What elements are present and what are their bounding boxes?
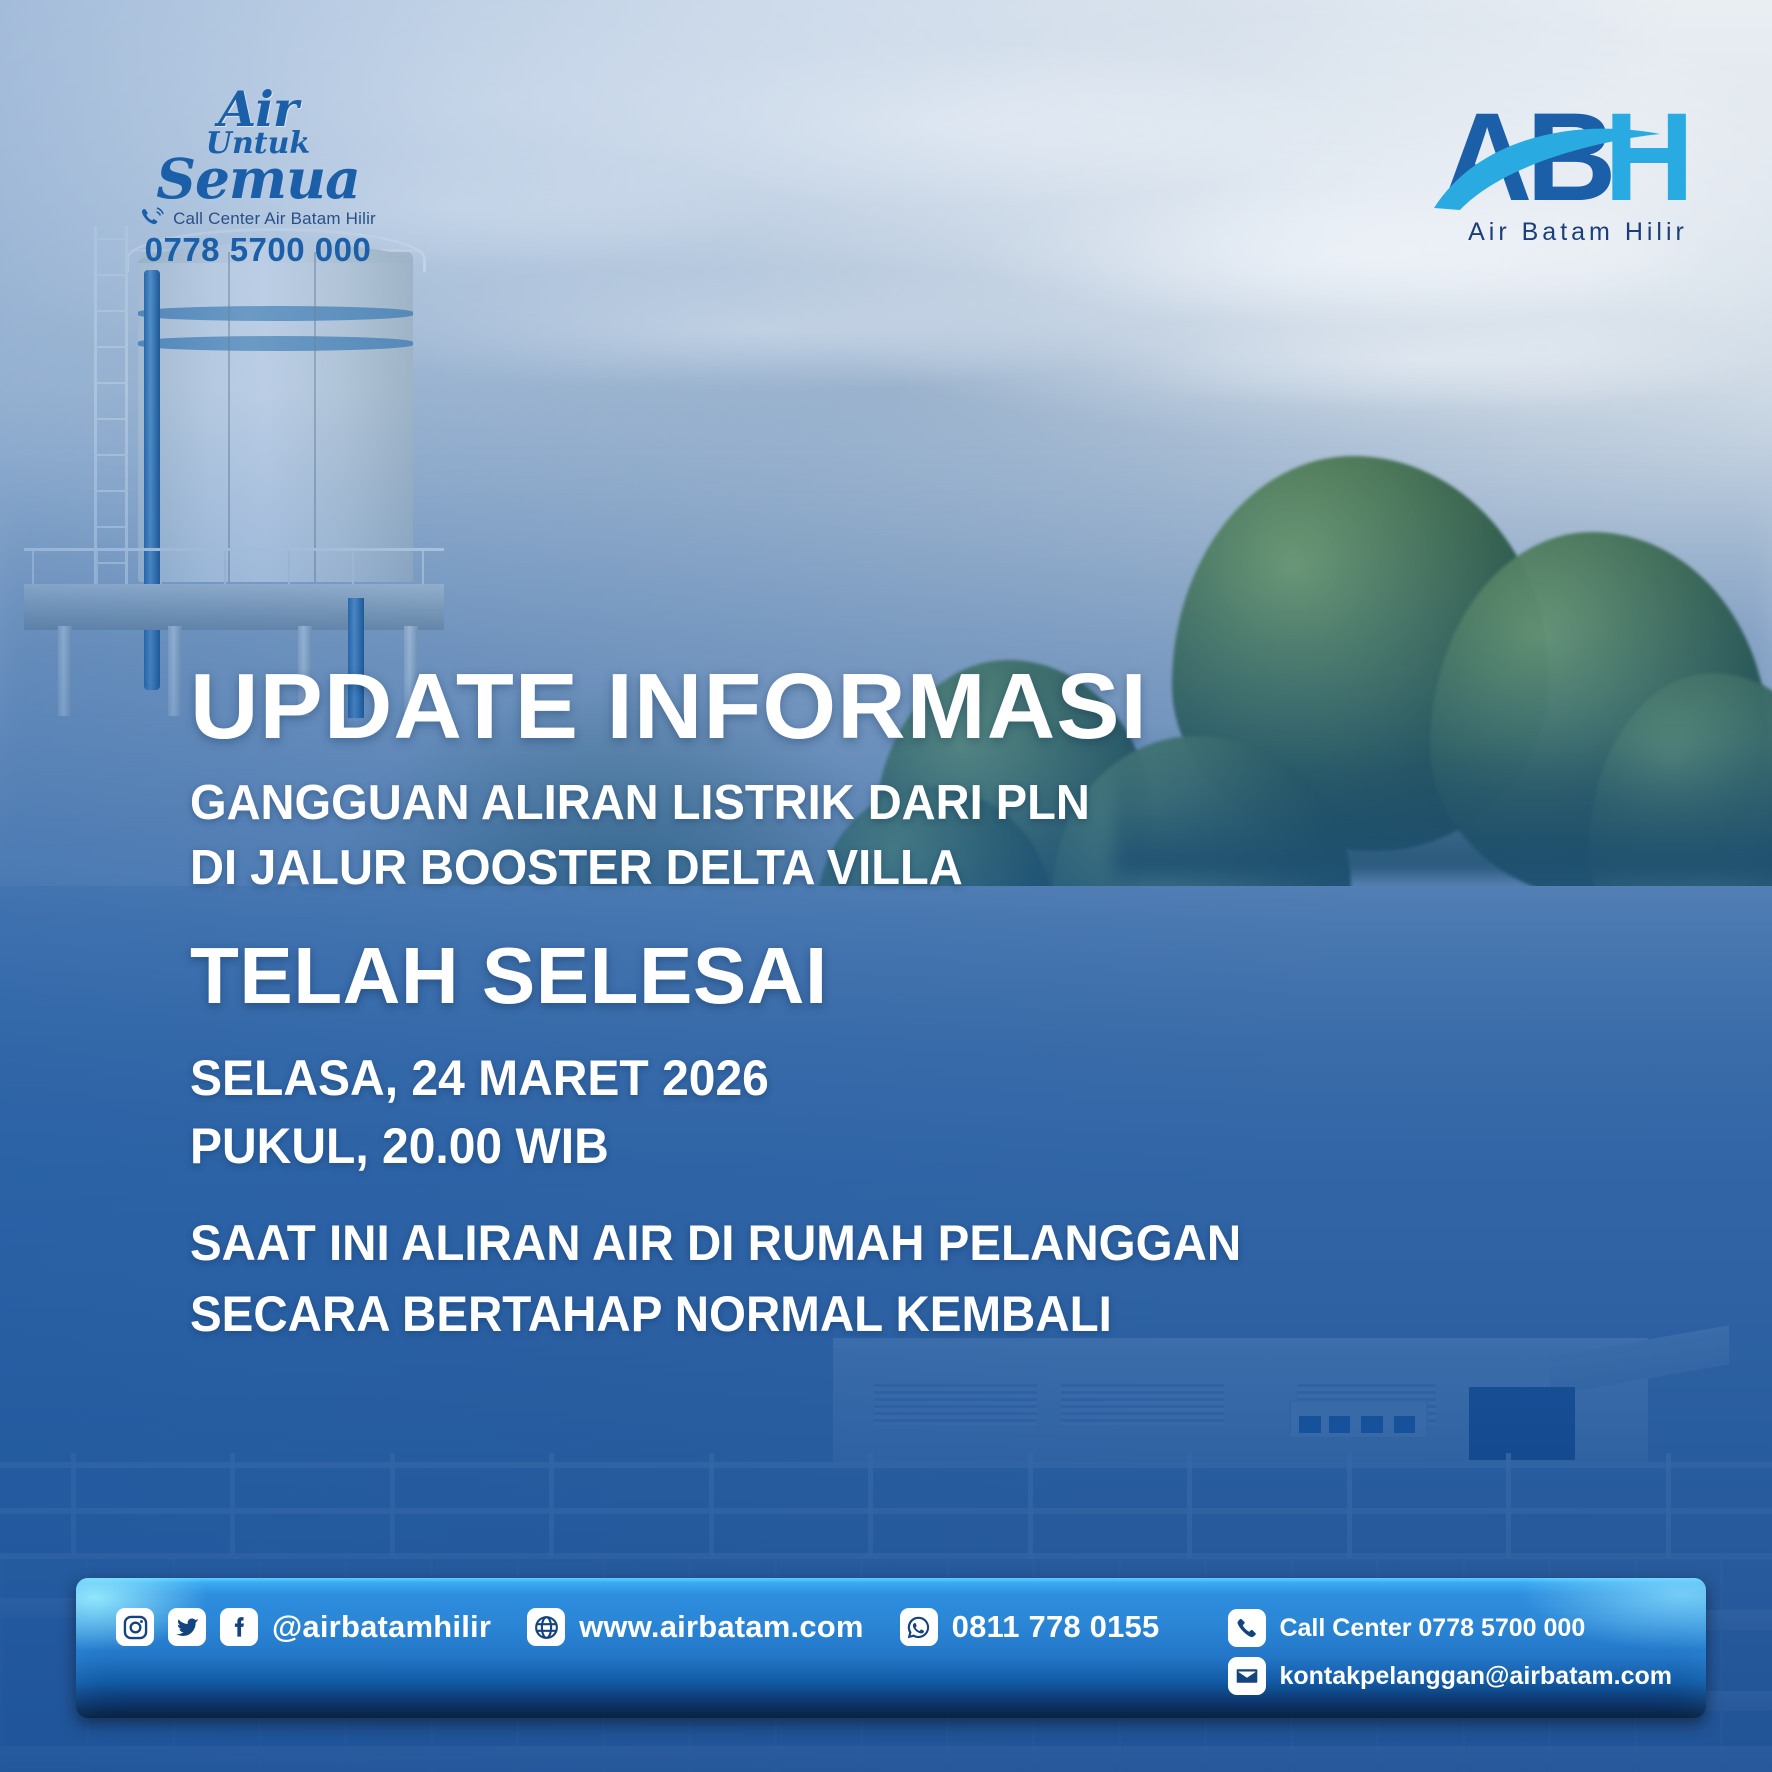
phone-icon[interactable] [1228, 1609, 1266, 1647]
call-center-number: 0778 5700 000 [128, 231, 388, 269]
globe-icon[interactable] [527, 1608, 565, 1646]
facebook-icon[interactable] [220, 1608, 258, 1646]
social-handle[interactable]: @airbatamhilir [272, 1609, 491, 1645]
status-badge: TELAH SELESAI [190, 934, 1610, 1018]
subject-line-2: DI JALUR BOOSTER DELTA VILLA [190, 836, 1553, 901]
note-line-1: SAAT INI ALIRAN AIR DI RUMAH PELANGGAN [190, 1208, 1539, 1279]
mail-icon[interactable] [1228, 1657, 1266, 1695]
abh-logo: AB H Air Batam Hilir [1428, 96, 1728, 247]
svg-text:H: H [1604, 96, 1694, 216]
instagram-icon[interactable] [116, 1608, 154, 1646]
whatsapp-icon[interactable] [900, 1608, 938, 1646]
call-center-label: Call Center Air Batam Hilir [173, 209, 376, 229]
air-untuk-semua-logo: Air Untuk Semua Call Center Air Batam Hi… [128, 86, 388, 269]
twitter-icon[interactable] [168, 1608, 206, 1646]
page-title: UPDATE INFORMASI [190, 660, 1638, 753]
announcement-poster: Air Untuk Semua Call Center Air Batam Hi… [0, 0, 1772, 1772]
call-center-footer[interactable]: Call Center 0778 5700 000 [1279, 1614, 1585, 1643]
subject-line-1: GANGGUAN ALIRAN LISTRIK DARI PLN [190, 771, 1553, 836]
whatsapp-number[interactable]: 0811 778 0155 [952, 1609, 1160, 1645]
website-link[interactable]: www.airbatam.com [579, 1609, 864, 1645]
abh-logo-name: Air Batam Hilir [1428, 218, 1728, 247]
event-date: SELASA, 24 MARET 2026 [190, 1044, 1553, 1112]
event-time: PUKUL, 20.00 WIB [190, 1112, 1553, 1180]
note-line-2: SECARA BERTAHAP NORMAL KEMBALI [190, 1279, 1539, 1350]
contact-footer-bar: @airbatamhilir www.airbatam.com 0811 778… [76, 1578, 1706, 1718]
tagline-semua: Semua [128, 153, 388, 205]
abh-monogram: AB H [1428, 96, 1728, 216]
email-address[interactable]: kontakpelanggan@airbatam.com [1279, 1662, 1672, 1691]
phone-ringing-icon [140, 206, 166, 233]
announcement-copy: UPDATE INFORMASI GANGGUAN ALIRAN LISTRIK… [190, 660, 1610, 1350]
